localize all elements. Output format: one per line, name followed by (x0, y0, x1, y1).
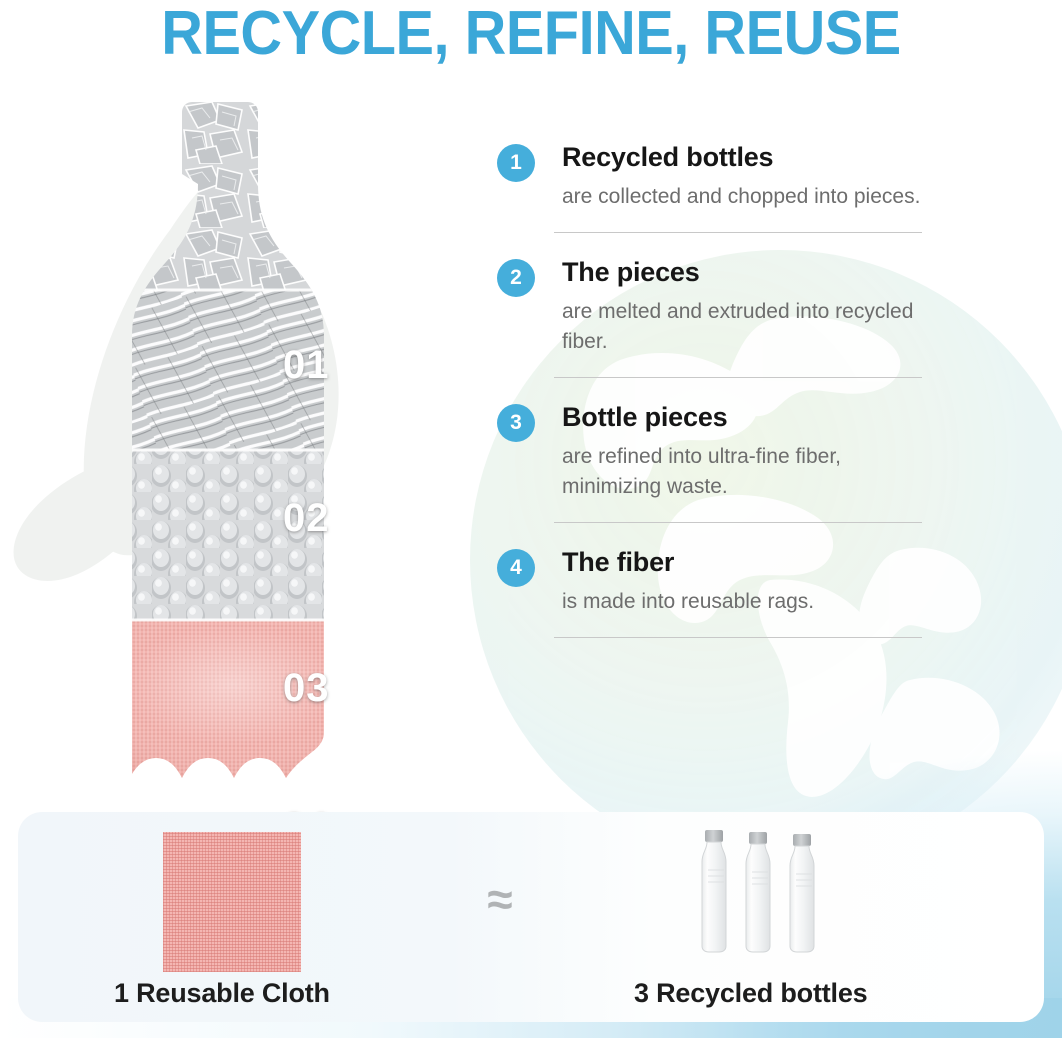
process-step-4: 4 The fiber is made into reusable rags. (497, 545, 927, 617)
step-title-3: Bottle pieces (562, 400, 927, 434)
page-title: RECYCLE, REFINE, REUSE (37, 2, 1025, 66)
step-divider-2 (554, 377, 922, 378)
step-body-1: are collected and chopped into pieces. (562, 182, 927, 212)
step-body-4: is made into reusable rags. (562, 587, 927, 617)
step-number-badge-1: 1 (497, 144, 535, 182)
bottle-diagram: 01 02 03 04 (118, 100, 390, 790)
reusable-cloth-swatch-icon (163, 832, 301, 972)
process-step-3: 3 Bottle pieces are refined into ultra-f… (497, 400, 927, 502)
step-number-badge-2: 2 (497, 259, 535, 297)
step-body-3: are refined into ultra-fine fiber, minim… (562, 442, 927, 502)
approximately-equal-icon: ≈ (470, 876, 530, 922)
recycled-bottles-icon (692, 826, 832, 966)
infographic-poster: RECYCLE, REFINE, REUSE (0, 0, 1062, 1038)
bottle-segment-number-03: 03 (283, 666, 330, 711)
step-title-2: The pieces (562, 255, 927, 289)
process-step-2: 2 The pieces are melted and extruded int… (497, 255, 927, 357)
step-divider-4 (554, 637, 922, 638)
step-divider-3 (554, 522, 922, 523)
step-number-badge-4: 4 (497, 549, 535, 587)
process-step-1: 1 Recycled bottles are collected and cho… (497, 140, 927, 212)
step-title-4: The fiber (562, 545, 927, 579)
process-steps-list: 1 Recycled bottles are collected and cho… (497, 140, 927, 660)
equivalence-right-caption: 3 Recycled bottles (634, 978, 868, 1009)
step-divider-1 (554, 232, 922, 233)
step-number-badge-3: 3 (497, 404, 535, 442)
step-title-1: Recycled bottles (562, 140, 927, 174)
step-body-2: are melted and extruded into recycled fi… (562, 297, 927, 357)
equivalence-left-caption: 1 Reusable Cloth (114, 978, 330, 1009)
bottle-segment-number-02: 02 (283, 496, 330, 541)
bottle-segment-number-01: 01 (283, 343, 330, 388)
